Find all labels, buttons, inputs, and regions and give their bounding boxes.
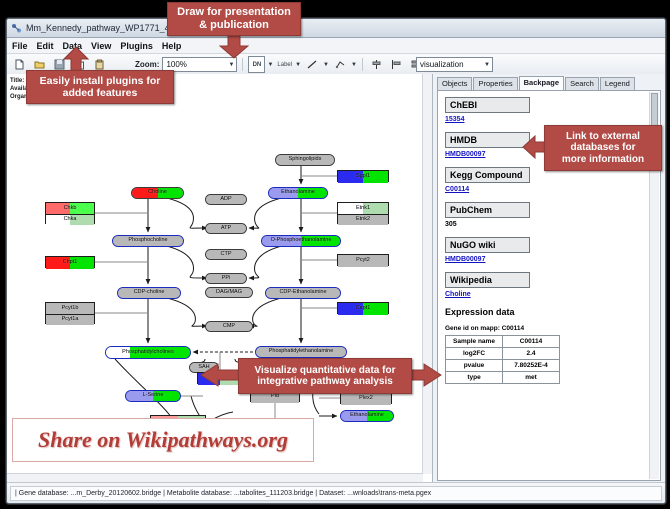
gene-node-etnk[interactable]: Etnk1Etnk2	[337, 202, 389, 224]
gene-node-pcyt2[interactable]: Pcyt2	[337, 254, 389, 266]
node-label: Phosphatidylcholines	[122, 350, 174, 356]
zoom-label: Zoom:	[135, 60, 159, 69]
menu-item-edit[interactable]: Edit	[37, 41, 54, 51]
node-label: PPi	[222, 276, 231, 282]
tab-backpage[interactable]: Backpage	[519, 76, 564, 90]
gene-node-chpt1[interactable]: Chpt1	[45, 256, 95, 268]
canvas-vertical-scrollbar[interactable]	[422, 74, 432, 474]
side-panel-tabs[interactable]: Objects Properties Backpage Search Legen…	[437, 76, 661, 90]
gene-label: Pld	[271, 394, 279, 400]
callout-plugins-line2: added features	[40, 87, 161, 99]
metabolite-node-ethanolamine2[interactable]: Ethanolamine	[340, 410, 394, 422]
line-tool-icon[interactable]	[304, 56, 321, 73]
gene-label: Plex2	[359, 396, 373, 402]
screenshot-root: Mm_Kennedy_pathway_WP1771_45176.gpml Fil…	[0, 0, 670, 509]
gene-label: Cept1	[356, 306, 371, 312]
expression-key: type	[446, 372, 503, 384]
expression-value: 2.4	[503, 348, 560, 360]
menu-item-plugins[interactable]: Plugins	[120, 41, 153, 51]
gene-row[interactable]: Chpt1	[46, 257, 94, 269]
db-value-chebi[interactable]: 15354	[445, 116, 650, 123]
metabolite-node-cdp_ethanolamine[interactable]: CDP-Ethanolamine	[265, 287, 341, 299]
callout-draw-arrow-icon	[219, 33, 249, 59]
db-value-nugo-wiki[interactable]: HMDB00097	[445, 256, 650, 263]
gene-node-pcyt1[interactable]: Pcyt1bPcyt1a	[45, 302, 95, 324]
gene-node-sgpl1[interactable]: Sgpl1	[337, 170, 389, 182]
node-label: Ethanolamine	[350, 413, 384, 419]
table-row: pvalue7.80252E-4	[446, 360, 560, 372]
db-header-nugo-wiki: NuGO wiki	[445, 237, 530, 253]
node-label: Ethanolamine	[281, 190, 315, 196]
expression-key: pvalue	[446, 360, 503, 372]
visualization-combo[interactable]: visualization ▼	[416, 57, 493, 72]
db-header-kegg-compound: Kegg Compound	[445, 167, 530, 183]
gene-row[interactable]: Chkb	[46, 203, 94, 214]
table-row: Sample nameC00114	[446, 336, 560, 348]
chevron-down-icon[interactable]: ▼	[351, 62, 357, 68]
db-header-wikipedia: Wikipedia	[445, 272, 530, 288]
expression-value: 7.80252E-4	[503, 360, 560, 372]
db-value-wikipedia[interactable]: Choline	[445, 291, 650, 298]
node-label: Phosphatidylethanolamine	[269, 349, 334, 355]
table-row: log2FC2.4	[446, 348, 560, 360]
callout-share-text: Share on Wikipathways.org	[38, 427, 288, 453]
status-text: | Gene database: ...m_Derby_20120602.bri…	[15, 490, 431, 497]
metabolite-node-phosphatidylethanolamines[interactable]: Phosphatidylethanolamine	[255, 346, 347, 358]
gene-label: Pcyt2	[356, 258, 370, 264]
label-tool[interactable]: Label	[276, 56, 293, 73]
menu-bar[interactable]: File Edit Data View Plugins Help	[7, 38, 665, 54]
menu-item-view[interactable]: View	[91, 41, 111, 51]
metabolite-node-ophosphoetha[interactable]: O-Phosphoethanolamine	[261, 235, 341, 247]
expression-value: C00114	[503, 336, 560, 348]
metabolite-node-atp[interactable]: ATP	[205, 223, 247, 234]
visualization-value: visualization	[420, 60, 464, 69]
metabolite-node-choline_top[interactable]: Choline	[131, 187, 184, 199]
node-label: Sphingolipids	[289, 157, 322, 163]
callout-visualize-right-arrow-icon	[408, 363, 442, 387]
gene-row[interactable]: Etnk1	[338, 203, 388, 214]
db-header-hmdb: HMDB	[445, 132, 530, 148]
metabolite-node-adp[interactable]: ADP	[205, 194, 247, 205]
callout-link: Link to external databases for more info…	[544, 125, 662, 171]
callout-plugins: Easily install plugins for added feature…	[26, 70, 174, 104]
shape-tool-icon[interactable]	[332, 56, 349, 73]
callout-link-arrow-icon	[522, 135, 546, 159]
node-label: L-Serine	[143, 393, 164, 399]
callout-visualize-line1: Visualize quantitative data for	[255, 365, 396, 377]
callout-plugins-arrow-icon	[63, 46, 89, 72]
gene-node-chkb_chka[interactable]: ChkbChka	[45, 202, 95, 224]
gene-label: Etnk1	[356, 206, 370, 212]
callout-plugins-line1: Easily install plugins for	[40, 75, 161, 87]
align-left-icon[interactable]	[388, 56, 405, 73]
callout-draw-line1: Draw for presentation	[177, 6, 291, 19]
table-row: typemet	[446, 372, 560, 384]
callout-link-line1: Link to external	[562, 131, 644, 143]
node-label: Phosphocholine	[128, 238, 167, 244]
expression-data-heading: Expression data	[445, 307, 650, 317]
chevron-down-icon[interactable]: ▼	[323, 62, 329, 68]
gene-row[interactable]: Pcyt1b	[46, 303, 94, 314]
gene-label: Chka	[64, 217, 77, 223]
node-label: DAG/MAG	[216, 290, 242, 296]
node-label: ADP	[220, 197, 231, 203]
metabolite-node-phosphatidylcholines[interactable]: Phosphatidylcholines	[105, 346, 191, 359]
tab-properties[interactable]: Properties	[473, 77, 517, 90]
toolbar-separator	[362, 58, 363, 71]
gene-label: Pcyt1a	[62, 317, 79, 323]
gene-row[interactable]: Plex2	[341, 393, 391, 405]
gene-id-label: Gene id on mapp: C00114	[445, 325, 650, 332]
metabolite-node-ctp[interactable]: CTP	[205, 249, 247, 260]
callout-visualize-left-arrow-icon	[200, 363, 240, 387]
metabolite-node-ppi[interactable]: PPi	[205, 273, 247, 284]
node-label: CMP	[223, 324, 235, 330]
node-label: ATP	[221, 226, 231, 232]
expression-value: met	[503, 372, 560, 384]
db-header-chebi: ChEBI	[445, 97, 530, 113]
callout-link-line2: databases for	[562, 142, 644, 154]
expression-key: Sample name	[446, 336, 503, 348]
metabolite-node-cmp[interactable]: CMP	[205, 321, 253, 332]
callout-draw-line2: & publication	[177, 19, 291, 32]
callout-link-line3: more information	[562, 154, 644, 166]
metabolite-node-phosphocholine[interactable]: Phosphocholine	[112, 235, 184, 247]
gene-row[interactable]: Cept1	[338, 303, 388, 315]
datanode-tool-icon[interactable]: DN	[248, 56, 265, 73]
callout-visualize: Visualize quantitative data for integrat…	[238, 358, 412, 394]
gene-row[interactable]: Chka	[46, 214, 94, 225]
gene-row[interactable]: Sgpl1	[338, 171, 388, 183]
metabolite-node-sphingolipids[interactable]: Sphingolipids	[275, 154, 335, 166]
callout-share: Share on Wikipathways.org	[12, 418, 314, 462]
title-bar: Mm_Kennedy_pathway_WP1771_45176.gpml	[7, 19, 665, 38]
db-value-pubchem: 305	[445, 221, 650, 228]
gene-row[interactable]: Pcyt1a	[46, 314, 94, 325]
gene-row[interactable]: Pcyt2	[338, 255, 388, 267]
chevron-down-icon: ▼	[228, 62, 234, 68]
status-bar: | Gene database: ...m_Derby_20120602.bri…	[7, 482, 665, 503]
menu-item-file[interactable]: File	[12, 41, 28, 51]
gene-label: Sgpl1	[356, 174, 370, 180]
callout-draw: Draw for presentation & publication	[167, 2, 301, 36]
metabolite-node-cdp_choline[interactable]: CDP-choline	[117, 287, 181, 299]
callout-visualize-line2: integrative pathway analysis	[255, 376, 396, 388]
status-bar-inner: | Gene database: ...m_Derby_20120602.bri…	[10, 486, 662, 501]
menu-item-help[interactable]: Help	[162, 41, 182, 51]
gene-label: Chpt1	[63, 260, 78, 266]
node-label: CDP-choline	[134, 290, 165, 296]
expression-key: log2FC	[446, 348, 503, 360]
tab-search[interactable]: Search	[565, 77, 599, 90]
align-center-icon[interactable]	[368, 56, 385, 73]
node-label: Choline	[148, 190, 167, 196]
node-label: O-Phosphoethanolamine	[271, 238, 332, 244]
gene-label: Etnk2	[356, 217, 370, 223]
gene-node-cept1[interactable]: Cept1	[337, 302, 389, 314]
toolbar-separator	[242, 58, 243, 71]
tab-objects[interactable]: Objects	[437, 77, 472, 90]
metabolite-node-ethanolamine1[interactable]: Ethanolamine	[268, 187, 328, 199]
gene-row[interactable]: Etnk2	[338, 214, 388, 225]
db-header-pubchem: PubChem	[445, 202, 530, 218]
expression-table: Sample nameC00114log2FC2.4pvalue7.80252E…	[445, 335, 560, 384]
pathvisio-icon	[11, 23, 22, 34]
node-label: CDP-Ethanolamine	[279, 290, 326, 296]
chevron-down-icon[interactable]: ▼	[295, 62, 301, 68]
zoom-value: 100%	[166, 60, 186, 69]
tab-legend[interactable]: Legend	[600, 77, 635, 90]
node-label: CTP	[221, 252, 232, 258]
gene-label: Pcyt1b	[62, 306, 79, 312]
metabolite-node-lserine_left[interactable]: L-Serine	[125, 390, 181, 402]
gene-label: Chkb	[64, 206, 77, 212]
metabolite-node-dagmag[interactable]: DAG/MAG	[205, 287, 253, 298]
chevron-down-icon: ▼	[484, 62, 490, 68]
chevron-down-icon[interactable]: ▼	[267, 62, 273, 68]
db-value-kegg-compound[interactable]: C00114	[445, 186, 650, 193]
